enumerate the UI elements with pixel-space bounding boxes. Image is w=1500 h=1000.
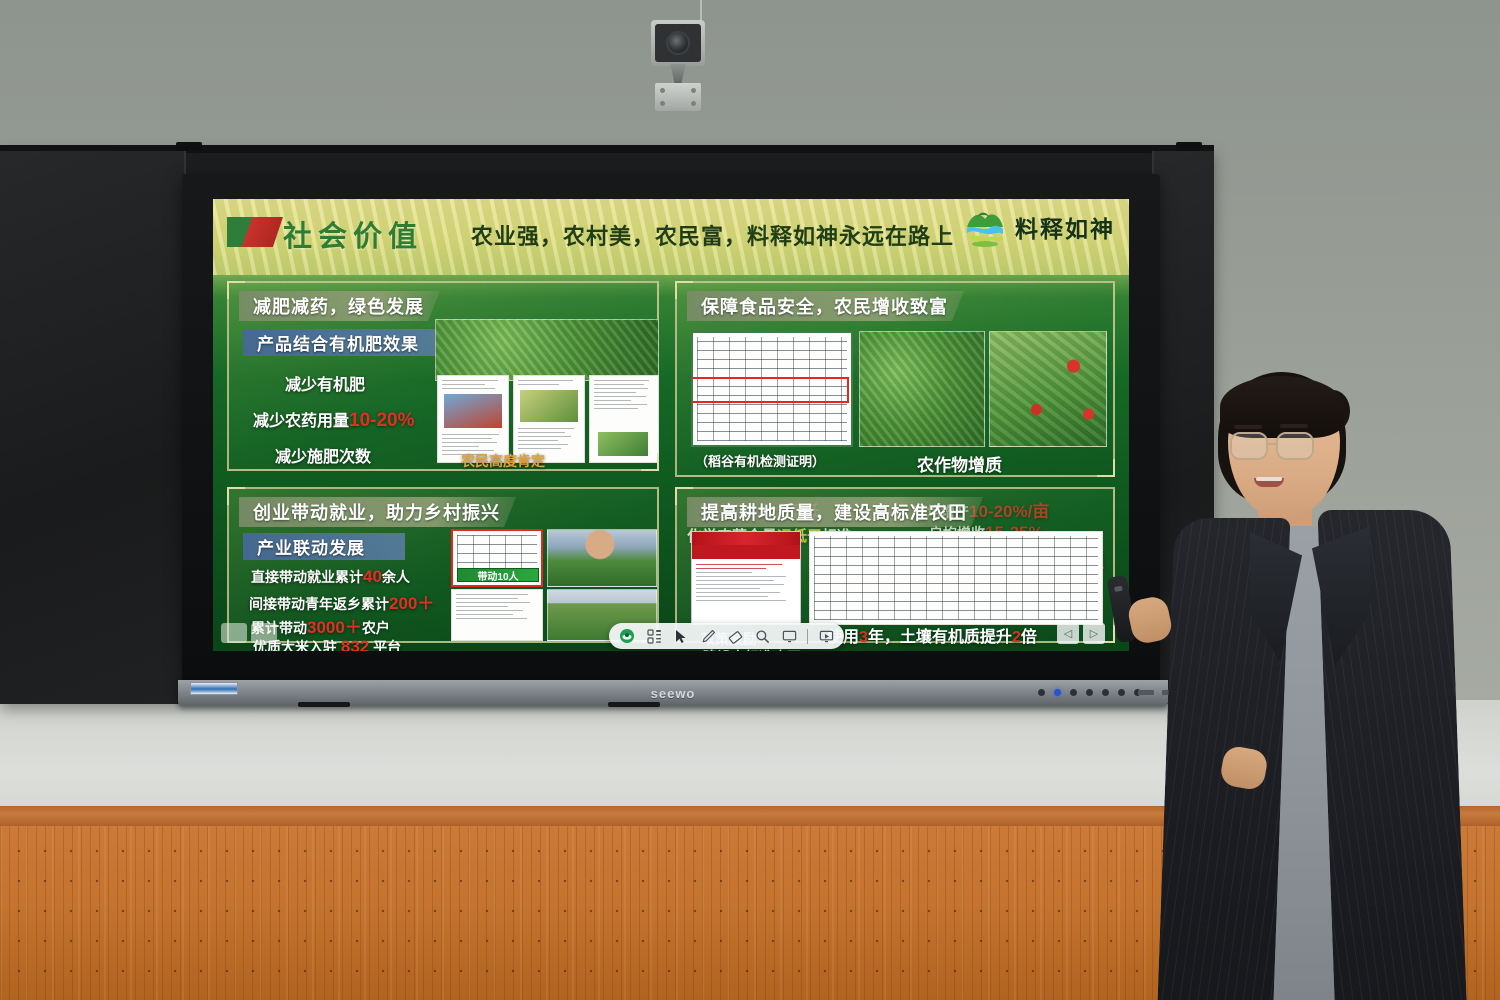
q1-bullet-2: 减少农药用量10-20%: [253, 407, 415, 432]
q1-field-photo: [435, 319, 659, 381]
presenter-person: [1130, 360, 1500, 1000]
quadrant-q2: 保障食品安全，农民增收致富 （稻谷有机检测证明） 农作物增质: [675, 281, 1115, 477]
pen-icon[interactable]: [696, 626, 720, 646]
q3-bullet-2: 间接带动青年返乡累计200＋: [249, 589, 434, 614]
q3-green-tag: 带动10人: [457, 568, 539, 582]
mountain-water-logo-icon: [963, 207, 1007, 247]
q1-bullet-1: 减少有机肥: [285, 371, 365, 395]
q4-gov-website-shot: [691, 531, 801, 625]
board-bracket-left: [176, 142, 202, 151]
q2-highlight-box: [691, 377, 849, 403]
q2-heading: 保障食品安全，农民增收致富: [687, 291, 964, 321]
ifp-button-volup[interactable]: [1118, 689, 1125, 696]
q3-b2-prefix: 间接带动青年返乡累计: [249, 596, 389, 612]
q1-doc-3: [589, 375, 659, 463]
q3-doc-letter: [451, 589, 543, 641]
magnifier-icon[interactable]: [750, 626, 774, 646]
present-icon[interactable]: [814, 626, 838, 646]
q3-b1-prefix: 直接带动就业累计: [251, 569, 363, 585]
q3-b1-value: 40: [363, 567, 382, 586]
q4-b1-value: 3: [859, 629, 868, 646]
slide-next-button[interactable]: ▷: [1083, 623, 1105, 644]
ifp-button-back[interactable]: [1070, 689, 1077, 696]
board-bracket-right: [1176, 142, 1202, 151]
q3-b4-suffix: 平台: [373, 639, 401, 651]
slide-prev-button[interactable]: ◁: [1057, 623, 1079, 644]
q3-heading: 创业带动就业，助力乡村振兴: [239, 497, 516, 527]
q2-doc-caption: （稻谷有机检测证明）: [695, 451, 825, 470]
side-tab-b[interactable]: [251, 623, 277, 643]
interactive-flat-panel[interactable]: 社会价值 农业强，农村美，农民富，料释如神永远在路上 料释如神: [182, 174, 1160, 684]
glasses-lens-left: [1230, 432, 1268, 460]
seewo-brand-label: seewo: [651, 686, 696, 701]
slide-title: 社会价值: [283, 213, 423, 255]
q1-bullet-2-text: 减少农药用量: [253, 413, 349, 430]
classroom-scene: 社会价值 农业强，农村美，农民富，料释如神永远在路上 料释如神: [0, 0, 1500, 1000]
ifp-button-voldown[interactable]: [1102, 689, 1109, 696]
q1-bullet-3: 减少施肥次数: [275, 443, 371, 467]
q4-bullet-2: 速效磷、钾含量降低: [843, 647, 987, 651]
q3-farmer-photo-1: [547, 529, 657, 587]
ifp-screen[interactable]: 社会价值 农业强，农村美，农民富，料释如神永远在路上 料释如神: [213, 199, 1129, 651]
ifp-button-power[interactable]: [1038, 689, 1045, 696]
q4-heading: 提高耕地质量，建设高标准农田: [687, 497, 983, 527]
q3-b4-value: 832: [341, 637, 369, 651]
q1-photo-caption: 农民高度肯定: [461, 451, 545, 471]
eraser-icon[interactable]: [723, 626, 747, 646]
presentation-slide: 社会价值 农业强，农村美，农民富，料释如神永远在路上 料释如神: [213, 199, 1129, 651]
q4-b1-mid: 年，土壤有机质提升: [868, 629, 1012, 646]
quadrant-q1: 减肥减药，绿色发展 产品结合有机肥效果 减少有机肥 减少农药用量10-20% 减…: [227, 281, 659, 471]
q3-b1-suffix: 余人: [382, 569, 410, 585]
ifp-hardware-buttons[interactable]: [1038, 689, 1141, 696]
apps-grid-icon[interactable]: [642, 626, 666, 646]
blackboard-panel-left: [0, 151, 186, 704]
q1-subheading: 产品结合有机肥效果: [243, 329, 451, 356]
q2-right-title: 农作物增质: [917, 451, 1002, 476]
q1-bullet-2-value: 10-20%: [349, 410, 415, 431]
chevron-right-icon: ▷: [1090, 627, 1098, 640]
q1-doc-2: [513, 375, 585, 463]
brand-lockup: 料释如神: [963, 207, 1115, 247]
q3-b3-suffix: 农户: [362, 620, 390, 636]
presenter-teeth: [1256, 477, 1282, 481]
presenter-brow-right: [1280, 424, 1308, 428]
q2-strawberry-photo-2: [989, 331, 1107, 447]
q1-heading: 减肥减药，绿色发展: [239, 291, 440, 321]
cursor-arrow-icon[interactable]: [669, 626, 693, 646]
camera-lens-icon: [666, 31, 690, 55]
q4-bullet-1: 使用3年，土壤有机质提升2倍: [827, 623, 1037, 647]
q3-b2-value: 200＋: [389, 594, 434, 613]
screen-icon[interactable]: [777, 626, 801, 646]
ifp-button-menu[interactable]: [1086, 689, 1093, 696]
presenter-brow-left: [1234, 425, 1262, 429]
q1-doc-1: [437, 375, 509, 463]
glasses-lens-right: [1276, 432, 1314, 460]
slide-side-tabs[interactable]: [221, 623, 277, 643]
camera-wall-plate: [655, 83, 701, 111]
quadrant-q4: 提高耕地质量，建设高标准农田 政策鼓励: [675, 487, 1115, 643]
glasses-bridge: [1268, 443, 1276, 445]
q4-b1-value2: 2: [1012, 629, 1021, 646]
q3-subheading: 产业联动发展: [243, 533, 405, 560]
toolbar-divider: [807, 629, 808, 644]
q3-bullet-1: 直接带动就业累计40余人: [251, 567, 410, 587]
q4-b1-suffix: 倍: [1021, 629, 1037, 646]
q2-strawberry-photo-1: [859, 331, 985, 447]
q4-soil-report-shot: [809, 531, 1103, 625]
wall-camera: [651, 20, 705, 66]
quadrant-q3: 创业带动就业，助力乡村振兴 产业联动发展 直接带动就业累计40余人 间接带动青年…: [227, 487, 659, 643]
q3-doc-table: 带动10人: [451, 529, 543, 587]
chevron-left-icon: ◁: [1064, 627, 1072, 640]
floating-toolbar[interactable]: [609, 623, 844, 649]
slide-subtitle: 农业强，农村美，农民富，料释如神永远在路上: [471, 219, 954, 251]
q3-b3-value: 3000＋: [307, 618, 362, 637]
q2-certificate-doc: [691, 331, 853, 447]
ifp-chin-bar: seewo: [178, 680, 1168, 706]
side-tab-a[interactable]: [221, 623, 247, 643]
ifp-button-home[interactable]: [1054, 689, 1061, 696]
ifp-asset-sticker: [190, 682, 238, 695]
brand-name: 料释如神: [1015, 210, 1115, 244]
home-icon[interactable]: [615, 626, 639, 646]
